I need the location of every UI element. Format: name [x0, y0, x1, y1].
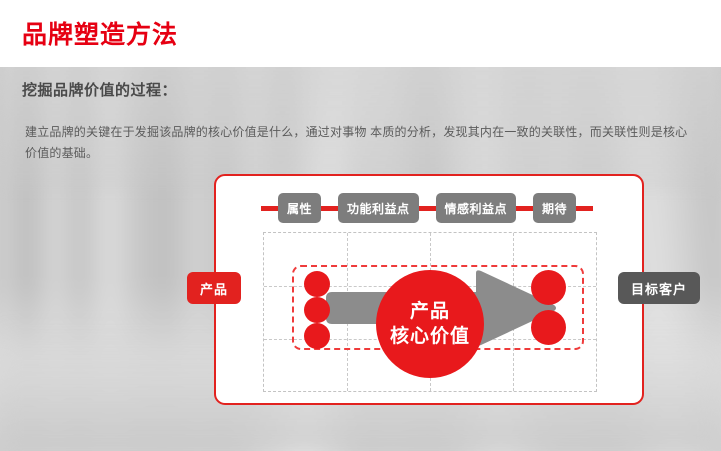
attribute-chain: 属性 功能利益点 情感利益点 期待	[261, 193, 609, 223]
chain-connector-dash	[576, 206, 593, 211]
core-value-circle: 产品 核心价值	[376, 270, 484, 378]
body-paragraph: 建立品牌的关键在于发掘该品牌的核心价值是什么，通过对事物 本质的分析，发现其内在…	[25, 122, 697, 164]
core-value-line-2: 核心价值	[390, 324, 470, 349]
left-dot	[304, 271, 330, 297]
left-dot	[304, 297, 330, 323]
badge-product[interactable]: 产品	[187, 272, 241, 304]
right-dot	[531, 310, 566, 345]
left-dot	[304, 323, 330, 349]
diagram-card: 属性 功能利益点 情感利益点 期待	[214, 174, 644, 405]
chain-connector-dash	[261, 206, 278, 211]
chain-box-functional-benefit[interactable]: 功能利益点	[338, 193, 419, 223]
page-title: 品牌塑造方法	[22, 20, 178, 50]
section-subtitle: 挖掘品牌价值的过程：	[22, 79, 177, 100]
chain-connector-dash	[419, 206, 436, 211]
chain-connector-dash	[321, 206, 338, 211]
slide-canvas: 品牌塑造方法 挖掘品牌价值的过程： 建立品牌的关键在于发掘该品牌的核心价值是什么…	[0, 0, 721, 451]
chain-box-emotional-benefit[interactable]: 情感利益点	[436, 193, 517, 223]
core-value-line-1: 产品	[410, 299, 450, 324]
badge-target-customer[interactable]: 目标客户	[618, 272, 700, 304]
right-dot	[531, 270, 566, 305]
chain-box-attribute[interactable]: 属性	[278, 193, 321, 223]
chain-connector-dash	[516, 206, 533, 211]
chain-box-expectation[interactable]: 期待	[533, 193, 576, 223]
